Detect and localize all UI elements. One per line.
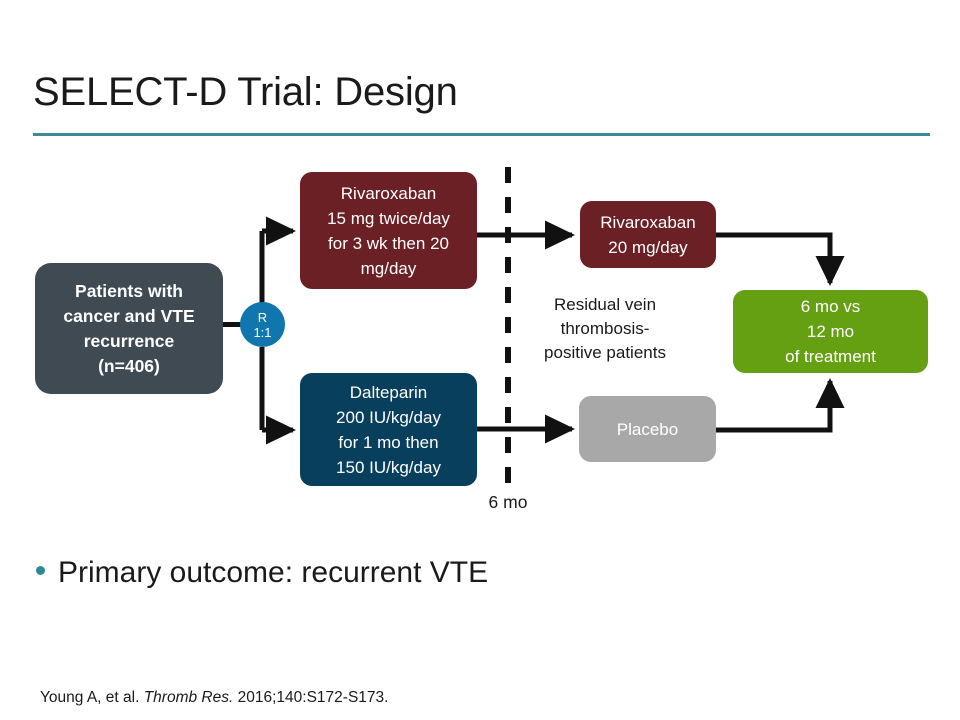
node-patients-line-3: recurrence — [84, 331, 174, 351]
node-rivaroxaban-induction-line-1: Rivaroxaban — [341, 184, 436, 203]
bullet-marker-icon — [36, 566, 45, 575]
slide-canvas: SELECT-D Trial: Design Patients w — [0, 0, 960, 720]
citation-reference: 2016;140:S172-S173. — [238, 689, 389, 706]
randomization-ratio: 1:1 — [253, 325, 271, 340]
label-residual-vein-thrombosis: Residual vein thrombosis- positive patie… — [520, 293, 690, 365]
bullet-primary-outcome-text: Primary outcome: recurrent VTE — [58, 554, 488, 592]
node-rivaroxaban-maintenance-text: Rivaroxaban 20 mg/day — [580, 210, 716, 260]
node-randomization[interactable]: R 1:1 — [240, 302, 285, 347]
node-rivaroxaban-induction-text: Rivaroxaban 15 mg twice/day for 3 wk the… — [300, 181, 477, 281]
connector-placebo-to-duration — [716, 381, 830, 430]
node-patients-line-1: Patients with — [75, 281, 183, 301]
connector-maintenance-to-duration — [716, 235, 830, 283]
node-duration-line-2: 12 mo — [807, 322, 854, 341]
label-residual-line-3: positive patients — [544, 343, 666, 362]
citation-authors: Young A, et al. — [40, 689, 139, 706]
node-placebo[interactable]: Placebo — [579, 396, 716, 462]
node-placebo-text: Placebo — [579, 417, 716, 442]
node-duration-line-3: of treatment — [785, 347, 876, 366]
citation-journal: Thromb Res. — [144, 689, 234, 706]
node-dalteparin[interactable]: Dalteparin 200 IU/kg/day for 1 mo then 1… — [300, 373, 477, 486]
label-timepoint-6-mo: 6 mo — [448, 490, 568, 514]
citation: Young A, et al. Thromb Res. 2016;140:S17… — [40, 688, 388, 708]
node-rivaroxaban-induction-line-2: 15 mg twice/day — [327, 209, 450, 228]
node-rivaroxaban-induction-line-3: for 3 wk then 20 — [328, 234, 449, 253]
node-dalteparin-line-4: 150 IU/kg/day — [336, 458, 441, 477]
node-rivaroxaban-induction-line-4: mg/day — [361, 259, 417, 278]
node-patients-text: Patients with cancer and VTE recurrence … — [35, 279, 223, 379]
node-patients-line-4: (n=406) — [98, 356, 160, 376]
title-divider — [33, 133, 930, 136]
node-rivaroxaban-maintenance-line-1: Rivaroxaban — [600, 213, 695, 232]
node-dalteparin-line-3: for 1 mo then — [338, 433, 438, 452]
node-rivaroxaban-maintenance[interactable]: Rivaroxaban 20 mg/day — [580, 201, 716, 268]
page-title: SELECT-D Trial: Design — [33, 66, 923, 118]
node-duration-line-1: 6 mo vs — [801, 297, 861, 316]
node-dalteparin-text: Dalteparin 200 IU/kg/day for 1 mo then 1… — [300, 380, 477, 480]
node-dalteparin-line-2: 200 IU/kg/day — [336, 408, 441, 427]
node-rivaroxaban-maintenance-line-2: 20 mg/day — [608, 238, 687, 257]
bullet-primary-outcome: Primary outcome: recurrent VTE — [36, 554, 488, 592]
node-patients[interactable]: Patients with cancer and VTE recurrence … — [35, 263, 223, 394]
label-residual-line-2: thrombosis- — [561, 319, 650, 338]
node-treatment-duration[interactable]: 6 mo vs 12 mo of treatment — [733, 290, 928, 373]
node-patients-line-2: cancer and VTE — [63, 306, 194, 326]
label-residual-line-1: Residual vein — [554, 295, 656, 314]
node-rivaroxaban-induction[interactable]: Rivaroxaban 15 mg twice/day for 3 wk the… — [300, 172, 477, 289]
randomization-letter: R — [258, 310, 267, 325]
node-dalteparin-line-1: Dalteparin — [350, 383, 428, 402]
node-treatment-duration-text: 6 mo vs 12 mo of treatment — [733, 294, 928, 369]
